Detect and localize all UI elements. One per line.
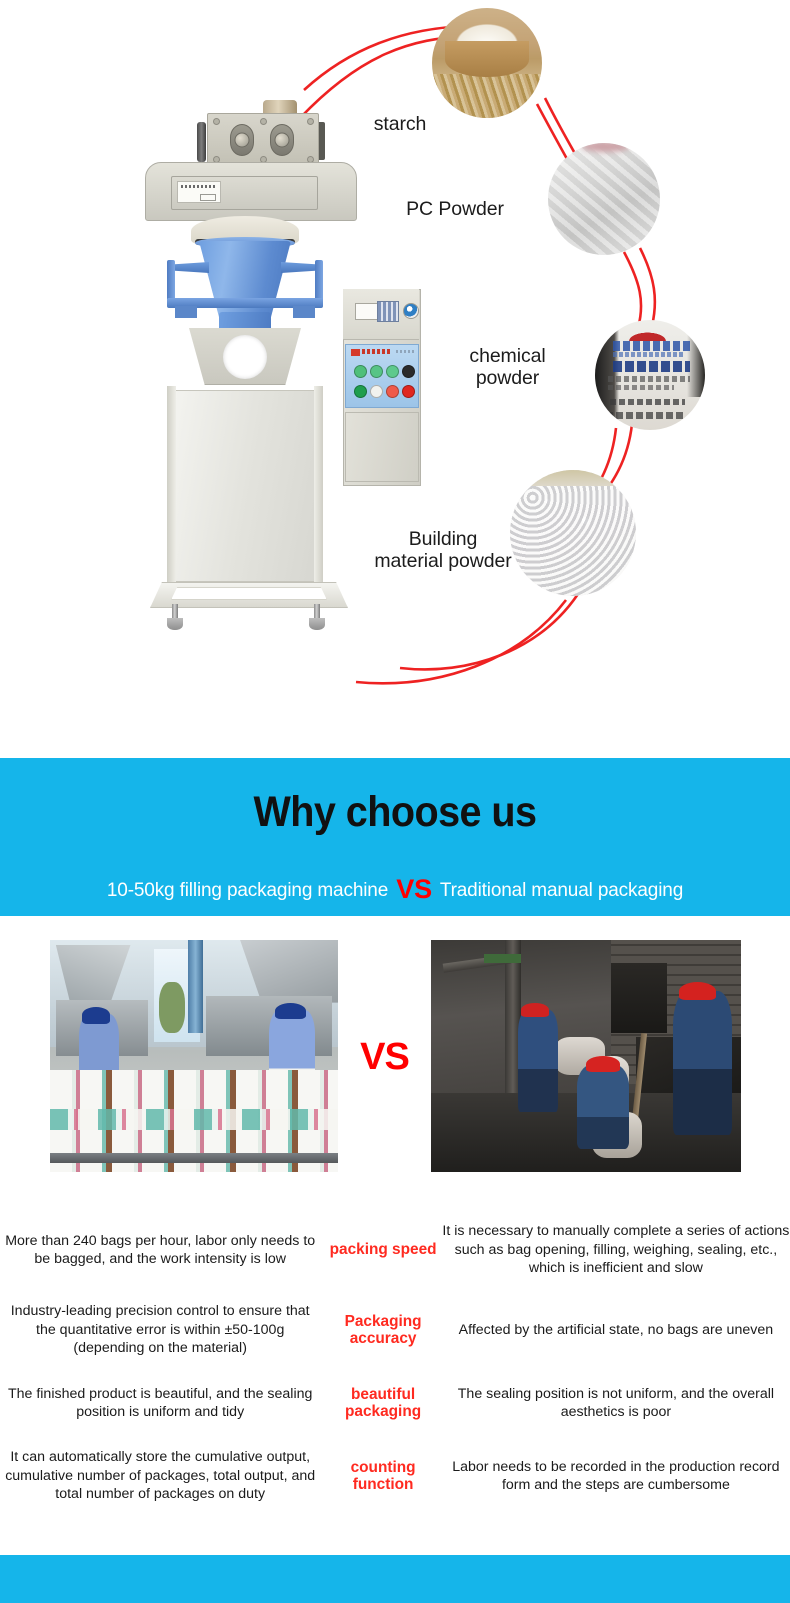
- pc-powder-image: [548, 143, 660, 255]
- starch-image: [432, 8, 542, 118]
- keypad-icon: [377, 301, 399, 322]
- label-pc-powder: PC Powder: [370, 198, 540, 220]
- leveling-foot-left: [167, 604, 183, 631]
- banner-subtitle-left: 10-50kg filling packaging machine: [107, 880, 388, 901]
- label-chemical-powder: chemical powder: [430, 345, 585, 390]
- why-choose-us-banner: Why choose us 10-50kg filling packaging …: [0, 758, 790, 916]
- motor-block: [207, 113, 319, 167]
- table-row: More than 240 bags per hour, labor only …: [0, 1212, 790, 1288]
- panel-button-2: [370, 365, 383, 378]
- feature-label: packing speed: [324, 1241, 441, 1258]
- label-building-material-powder: Building material powder: [348, 528, 538, 573]
- photo-comparison-section: VS: [0, 916, 790, 1206]
- panel-button-1: [354, 365, 367, 378]
- bottom-cyan-bar: [0, 1555, 790, 1603]
- manual-drawback-text: The sealing position is not uniform, and…: [442, 1385, 790, 1422]
- machine-advantage-text: More than 240 bags per hour, labor only …: [0, 1232, 324, 1269]
- machine-advantage-text: The finished product is beautiful, and t…: [0, 1385, 324, 1422]
- manual-drawback-text: Affected by the artificial state, no bag…: [442, 1321, 790, 1339]
- table-row: Industry-leading precision control to en…: [0, 1292, 790, 1368]
- feature-label: counting function: [324, 1459, 441, 1494]
- panel-button-3: [386, 365, 399, 378]
- banner-vs-label: VS: [393, 874, 435, 904]
- dial-icon: [403, 303, 419, 319]
- panel-button-6: [370, 385, 383, 398]
- manual-drawback-text: Labor needs to be recorded in the produc…: [442, 1458, 790, 1495]
- comparison-table: More than 240 bags per hour, labor only …: [0, 1206, 790, 1555]
- banner-title: Why choose us: [32, 788, 759, 837]
- banner-subtitle: 10-50kg filling packaging machine VS Tra…: [0, 874, 790, 905]
- panel-button-5: [354, 385, 367, 398]
- hero-application-section: starch PC Powder chemical powder Buildin…: [0, 0, 790, 758]
- manual-packaging-photo: [431, 940, 741, 1172]
- banner-subtitle-right: Traditional manual packaging: [440, 880, 683, 901]
- photo-vs-label: VS: [338, 1036, 431, 1079]
- leveling-foot-right: [309, 604, 325, 631]
- machine-advantage-text: Industry-leading precision control to en…: [0, 1302, 324, 1357]
- feature-label: Packaging accuracy: [324, 1313, 441, 1348]
- chemical-powder-image: [595, 320, 705, 430]
- automatic-packaging-photo: [50, 940, 338, 1172]
- discharge-outlet: [223, 335, 267, 379]
- table-row: It can automatically store the cumulativ…: [0, 1438, 790, 1514]
- label-starch: starch: [330, 113, 470, 135]
- machine-advantage-text: It can automatically store the cumulativ…: [0, 1448, 324, 1503]
- table-row: The finished product is beautiful, and t…: [0, 1372, 790, 1434]
- panel-button-8: [402, 385, 415, 398]
- control-panel: [345, 344, 419, 408]
- panel-button-7: [386, 385, 399, 398]
- manual-drawback-text: It is necessary to manually complete a s…: [442, 1222, 790, 1277]
- panel-button-4: [402, 365, 415, 378]
- feature-label: beautiful packaging: [324, 1386, 441, 1421]
- display-screen: [355, 303, 379, 320]
